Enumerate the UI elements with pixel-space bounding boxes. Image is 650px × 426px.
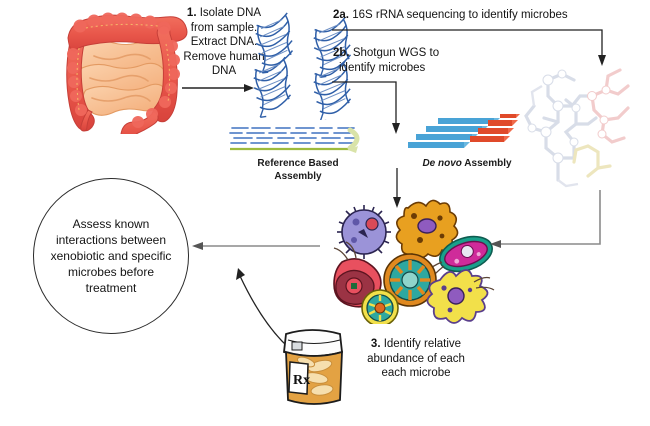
- rrna-secondary-structure: [518, 62, 640, 190]
- assessment-line-2: interactions between: [51, 232, 172, 248]
- step-3-number: 3.: [371, 338, 381, 350]
- step-2b-text-2: identify microbes: [333, 61, 483, 76]
- step-2a-number: 2a.: [333, 9, 349, 21]
- assessment-circle-text: Assess known interactions between xenobi…: [43, 216, 180, 296]
- step-3-text-1: Identify relative: [384, 338, 461, 350]
- denovo-assembly-caption-rest: Assembly: [462, 158, 512, 169]
- step-2a-text: 16S rRNA sequencing to identify microbes: [352, 9, 567, 21]
- denovo-assembly-graphic: [408, 112, 520, 156]
- microbe-cluster-illustration: [322, 196, 498, 324]
- step-3-label: 3. Identify relative abundance of each e…: [356, 337, 476, 381]
- step-1-number: 1.: [187, 7, 197, 19]
- reference-assembly-caption-line1: Reference Based: [238, 158, 358, 171]
- assessment-line-3: xenobiotic and specific: [51, 248, 172, 264]
- step-2b-number: 2b.: [333, 47, 350, 59]
- pill-bottle-icon: Rx: [276, 326, 352, 412]
- step-3-text-3: each microbe: [356, 366, 476, 381]
- arrow-step1-to-dna: [180, 78, 258, 98]
- intestine-illustration: [46, 2, 196, 134]
- assessment-circle: Assess known interactions between xenobi…: [33, 178, 189, 334]
- reference-assembly-caption-line2: Assembly: [238, 171, 358, 184]
- assessment-line-1: Assess known: [51, 216, 172, 232]
- denovo-assembly-caption: De novo Assembly: [412, 158, 522, 171]
- workflow-diagram: 1. 1. Isolate DNA Isolate DNA from sampl…: [0, 0, 650, 426]
- step-2b-text-1: Shotgun WGS to: [353, 47, 439, 59]
- assessment-line-4: microbes before: [51, 264, 172, 280]
- step-2a-label: 2a. 16S rRNA sequencing to identify micr…: [333, 8, 593, 23]
- assessment-line-5: treatment: [51, 280, 172, 296]
- arrow-microbes-to-assessment: [190, 236, 326, 256]
- reference-assembly-graphic: [228, 124, 368, 158]
- step-3-text-2: abundance of each: [356, 352, 476, 367]
- reference-assembly-caption: Reference Based Assembly: [238, 158, 358, 183]
- denovo-assembly-caption-italic: De novo: [422, 158, 461, 169]
- arrow-rrna-to-microbes: [486, 188, 616, 252]
- prescription-label: Rx: [293, 373, 310, 388]
- step-2b-label: 2b. Shotgun WGS to identify microbes: [333, 46, 483, 75]
